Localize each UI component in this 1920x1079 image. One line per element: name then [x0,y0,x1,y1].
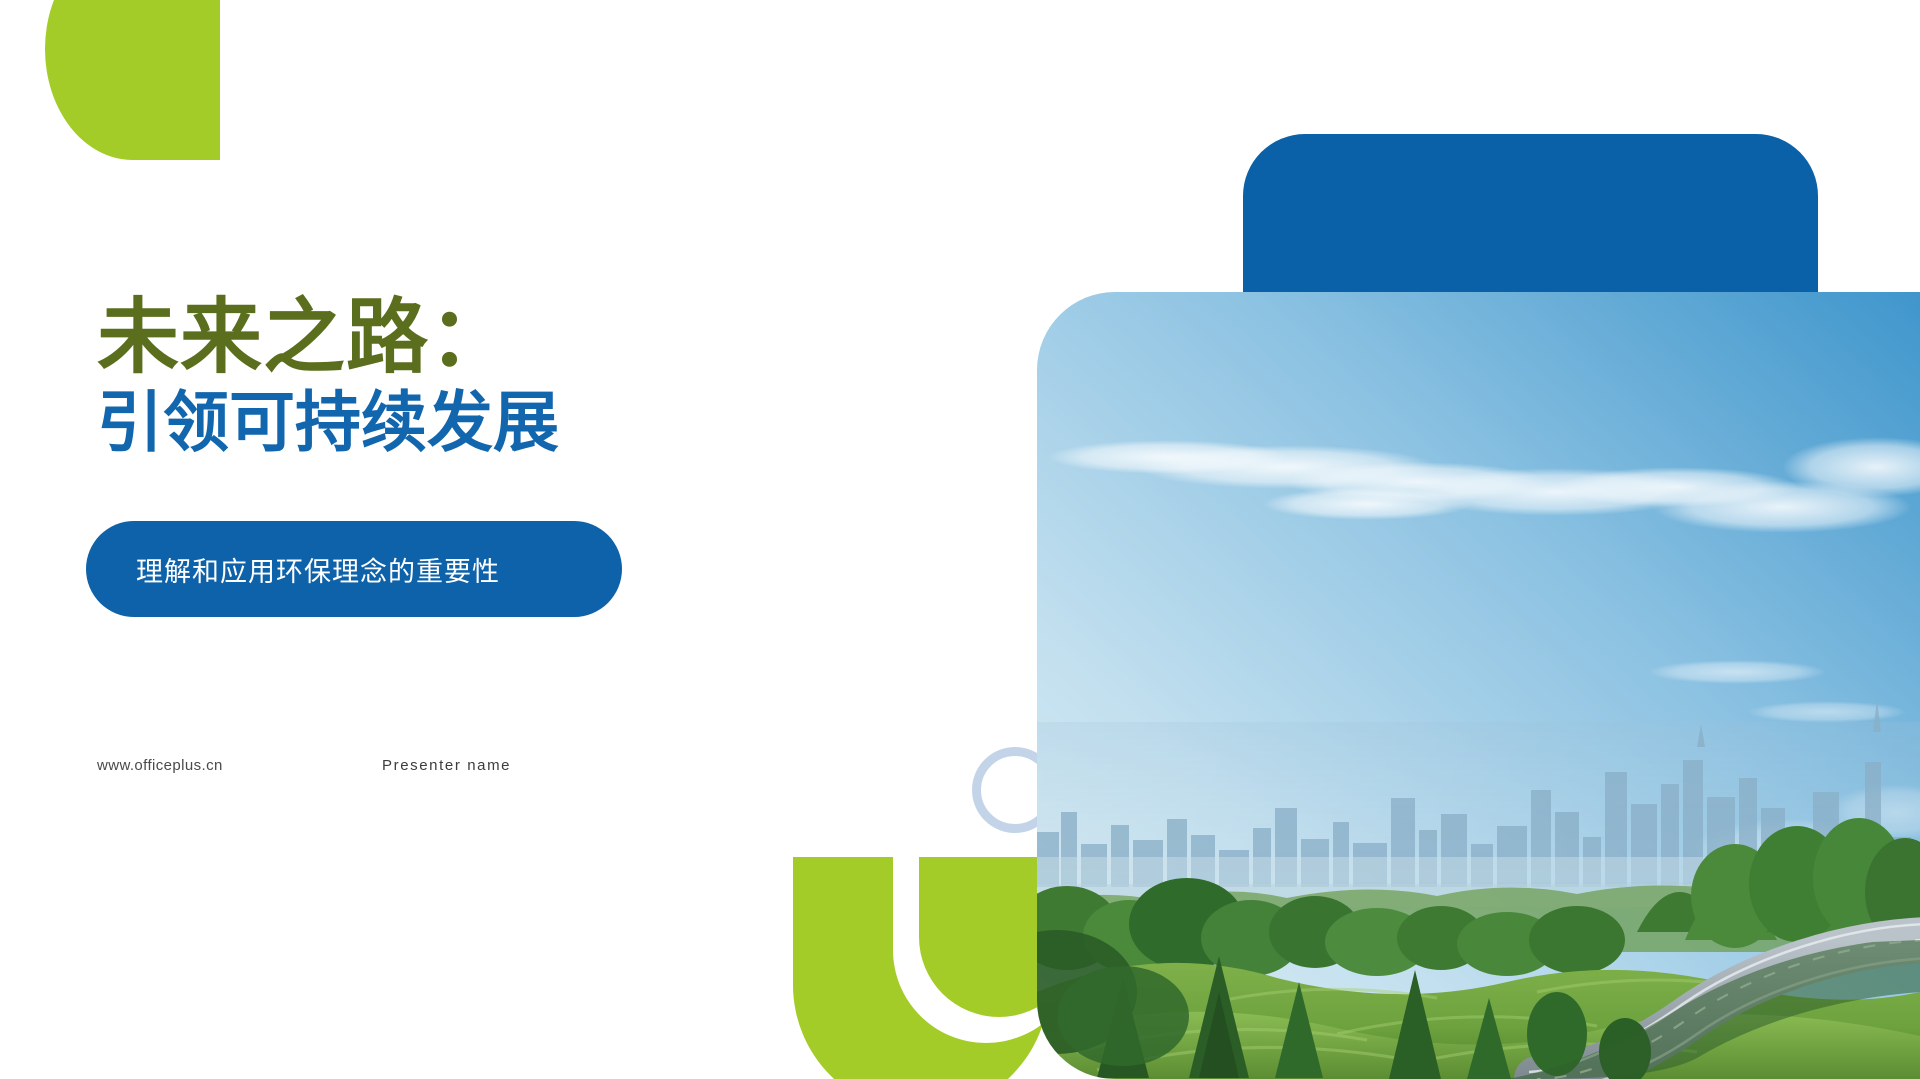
title-line-2: 引领可持续发展 [97,384,737,462]
green-quarter-circle-decoration [45,0,220,160]
hero-photo [1037,292,1920,1079]
presentation-slide: 未来之路： 引领可持续发展 理解和应用环保理念的重要性 www.officepl… [0,0,1920,1079]
subtitle-pill: 理解和应用环保理念的重要性 [86,521,622,617]
footer-presenter-name: Presenter name [382,757,511,774]
landscape-illustration [1037,292,1920,1079]
subtitle-text: 理解和应用环保理念的重要性 [86,550,500,589]
green-semicircle-decoration [793,857,1049,1079]
blue-rounded-panel-decoration [1243,134,1818,309]
slide-title: 未来之路： 引领可持续发展 [97,296,737,462]
title-line-1: 未来之路： [97,296,737,380]
footer-website[interactable]: www.officeplus.cn [97,757,223,774]
slide-footer: www.officeplus.cn Presenter name [97,757,657,781]
